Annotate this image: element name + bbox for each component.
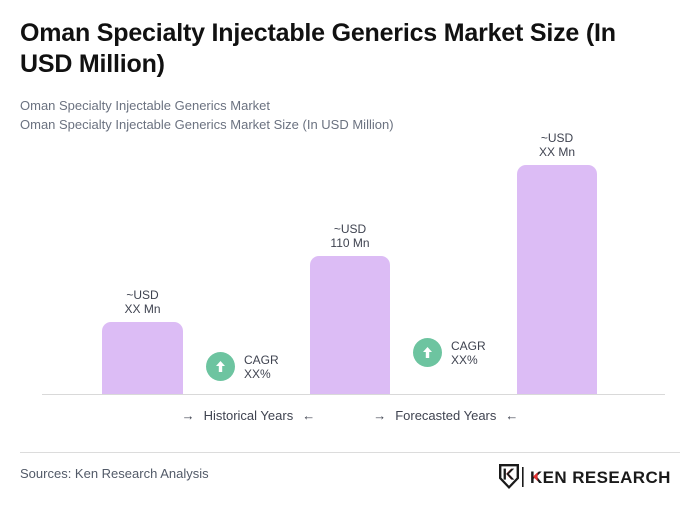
- footer-divider: [20, 452, 680, 453]
- arrow-left-icon: ←: [505, 409, 518, 422]
- cagr-label-line-2: XX%: [244, 367, 279, 381]
- bar-value-label-3: ~USD XX Mn: [539, 131, 575, 159]
- cagr-label-line-1: CAGR: [244, 353, 279, 367]
- legend-forecasted-years: → Forecasted Years ←: [373, 408, 518, 423]
- chart-header: Oman Specialty Injectable Generics Marke…: [20, 18, 670, 134]
- legend-historical-years: → Historical Years ←: [182, 408, 316, 423]
- svg-text:KEN RESEARCH: KEN RESEARCH: [530, 468, 671, 487]
- bar-1[interactable]: [102, 322, 183, 394]
- bar-label-line-2: XX Mn: [539, 145, 575, 159]
- cagr-annotation-2: CAGR XX%: [413, 338, 486, 367]
- ken-research-wordmark: KEN RESEARCH: [522, 466, 672, 488]
- cagr-label-1: CAGR XX%: [244, 353, 279, 381]
- bar-value-label-2: ~USD 110 Mn: [330, 222, 369, 250]
- cagr-label-line-2: XX%: [451, 353, 486, 367]
- bar-value-label-1: ~USD XX Mn: [124, 288, 160, 316]
- bar-label-line-2: XX Mn: [124, 302, 160, 316]
- cagr-annotation-1: CAGR XX%: [206, 352, 279, 381]
- arrow-right-icon: →: [182, 409, 195, 422]
- cagr-label-2: CAGR XX%: [451, 339, 486, 367]
- subtitle-line-1: Oman Specialty Injectable Generics Marke…: [20, 96, 670, 115]
- cagr-up-arrow-icon-1: [206, 352, 235, 381]
- legend-historical-label: Historical Years: [204, 408, 294, 423]
- brand-logo: KEN RESEARCH: [498, 463, 672, 490]
- bar-label-line-1: ~USD: [334, 222, 366, 236]
- bar-label-line-1: ~USD: [126, 288, 158, 302]
- chart-subtitle: Oman Specialty Injectable Generics Marke…: [20, 96, 670, 134]
- axis-baseline: [42, 394, 665, 395]
- cagr-up-arrow-icon-2: [413, 338, 442, 367]
- chart-slide: Oman Specialty Injectable Generics Marke…: [0, 0, 700, 520]
- sources-text: Sources: Ken Research Analysis: [20, 466, 209, 481]
- cagr-label-line-1: CAGR: [451, 339, 486, 353]
- page-title: Oman Specialty Injectable Generics Marke…: [20, 18, 660, 80]
- bar-3[interactable]: [517, 165, 597, 394]
- arrow-right-icon: →: [373, 409, 386, 422]
- year-range-legend: → Historical Years ← → Forecasted Years …: [0, 408, 700, 423]
- bar-label-line-1: ~USD: [541, 131, 573, 145]
- bar-2[interactable]: [310, 256, 390, 394]
- chart-plot-area: ~USD XX Mn CAGR XX% ~USD 110 Mn: [0, 140, 700, 396]
- arrow-left-icon: ←: [302, 409, 315, 422]
- legend-forecasted-label: Forecasted Years: [395, 408, 496, 423]
- ken-research-shield-icon: [498, 463, 520, 490]
- bar-label-line-2: 110 Mn: [330, 236, 369, 250]
